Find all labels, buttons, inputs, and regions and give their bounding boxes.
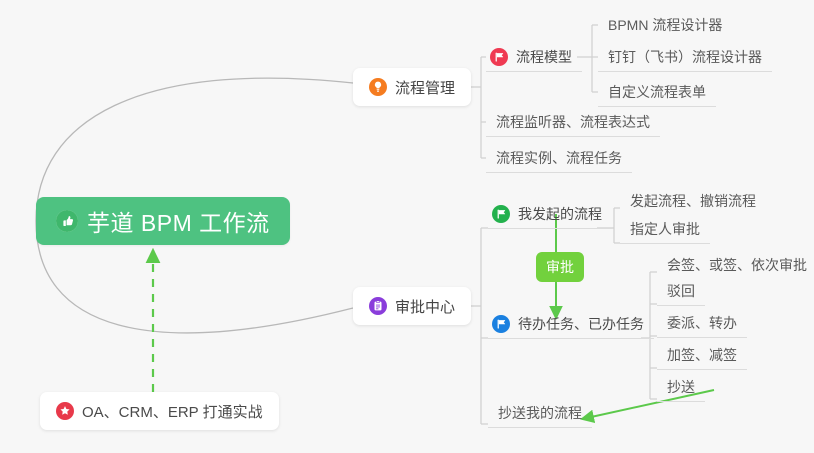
node-process-model-label: 流程模型 (516, 47, 572, 67)
leaf-countersign-label: 会签、或签、依次审批 (667, 255, 807, 275)
leaf-process-instance-label: 流程实例、流程任务 (496, 148, 622, 168)
document-icon (369, 297, 387, 315)
node-my-initiated-process-label: 我发起的流程 (518, 204, 602, 224)
star-icon (56, 402, 74, 420)
leaf-process-instance[interactable]: 流程实例、流程任务 (486, 143, 632, 173)
leaf-reject-label: 驳回 (667, 281, 695, 301)
leaf-start-cancel-process[interactable]: 发起流程、撤销流程 (620, 186, 766, 216)
floating-note-node[interactable]: OA、CRM、ERP 打通实战 (40, 392, 279, 430)
leaf-reject[interactable]: 驳回 (657, 276, 705, 306)
branch-process-management-label: 流程管理 (395, 77, 455, 98)
flag-icon (492, 315, 510, 333)
annotation-approval-tag[interactable]: 审批 (536, 252, 584, 282)
branch-process-management[interactable]: 流程管理 (353, 68, 471, 106)
leaf-start-cancel-process-label: 发起流程、撤销流程 (630, 191, 756, 211)
thumbs-up-icon (56, 210, 78, 232)
root-node[interactable]: 芋道 BPM 工作流 (36, 197, 290, 245)
leaf-dingtalk-designer-label: 钉钉（飞书）流程设计器 (608, 47, 762, 67)
leaf-designated-approver-label: 指定人审批 (630, 219, 700, 239)
leaf-delegate-transfer[interactable]: 委派、转办 (657, 308, 747, 338)
leaf-bpmn-designer[interactable]: BPMN 流程设计器 (598, 10, 732, 40)
root-label: 芋道 BPM 工作流 (87, 204, 270, 238)
flag-icon (492, 205, 510, 223)
node-my-initiated-process[interactable]: 我发起的流程 (488, 199, 612, 229)
leaf-cc-label: 抄送 (667, 377, 695, 397)
leaf-add-remove-sign[interactable]: 加签、减签 (657, 340, 747, 370)
leaf-cc[interactable]: 抄送 (657, 372, 705, 402)
leaf-add-remove-sign-label: 加签、减签 (667, 345, 737, 365)
leaf-process-listener[interactable]: 流程监听器、流程表达式 (486, 107, 660, 137)
floating-note-label: OA、CRM、ERP 打通实战 (82, 401, 263, 422)
branch-approval-center[interactable]: 审批中心 (353, 287, 471, 325)
leaf-dingtalk-designer[interactable]: 钉钉（飞书）流程设计器 (598, 42, 772, 72)
node-process-model[interactable]: 流程模型 (486, 42, 582, 72)
node-todo-done-tasks[interactable]: 待办任务、已办任务 (488, 309, 654, 339)
leaf-cc-to-me-process-label: 抄送我的流程 (498, 403, 582, 423)
mindmap-canvas: 芋道 BPM 工作流 OA、CRM、ERP 打通实战 流程管理 (0, 0, 814, 453)
leaf-custom-form[interactable]: 自定义流程表单 (598, 77, 716, 107)
flag-icon (490, 48, 508, 66)
leaf-bpmn-designer-label: BPMN 流程设计器 (608, 15, 722, 35)
leaf-delegate-transfer-label: 委派、转办 (667, 313, 737, 333)
leaf-process-listener-label: 流程监听器、流程表达式 (496, 112, 650, 132)
node-todo-done-tasks-label: 待办任务、已办任务 (518, 314, 644, 334)
leaf-custom-form-label: 自定义流程表单 (608, 82, 706, 102)
leaf-designated-approver[interactable]: 指定人审批 (620, 214, 710, 244)
branch-approval-center-label: 审批中心 (395, 296, 455, 317)
lightbulb-icon (369, 78, 387, 96)
annotation-approval-tag-label: 审批 (546, 257, 574, 277)
leaf-cc-to-me-process[interactable]: 抄送我的流程 (488, 398, 592, 428)
